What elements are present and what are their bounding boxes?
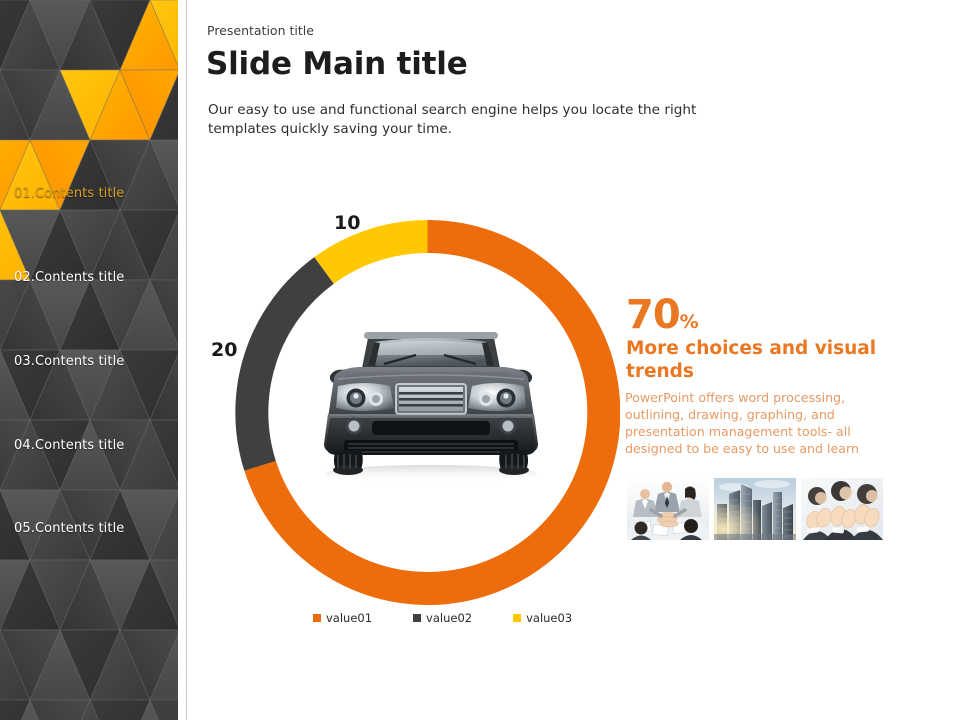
sidebar-divider <box>178 0 187 720</box>
sidebar-item-label: 05.Contents title <box>14 521 124 536</box>
chart-legend: value01 value02 value03 <box>313 610 572 626</box>
legend-label: value01 <box>326 611 372 625</box>
sidebar-item-label: 03.Contents title <box>14 354 124 369</box>
sidebar-item-label: 01.Contents title <box>14 186 124 201</box>
slide-subcopy: Our easy to use and functional search en… <box>208 101 753 140</box>
right-panel-body: PowerPoint offers word processing, outli… <box>625 389 895 457</box>
sidebar-item-contents-01[interactable]: 01.Contents title <box>14 186 178 201</box>
chart-value-label-10: 10 <box>334 212 360 234</box>
legend-swatch-icon <box>413 614 421 622</box>
legend-item-value02[interactable]: value02 <box>413 611 472 625</box>
presentation-title: Presentation title <box>207 23 314 38</box>
legend-item-value01[interactable]: value01 <box>313 611 372 625</box>
photo-strip <box>627 478 883 540</box>
city-skyscrapers-photo[interactable] <box>714 478 796 540</box>
legend-item-value03[interactable]: value03 <box>513 611 572 625</box>
right-panel-heading: More choices and visual trends <box>626 338 894 383</box>
sidebar-nav: 01.Contents title 02.Contents title 03.C… <box>0 0 178 720</box>
page-title: Slide Main title <box>206 46 468 82</box>
sidebar: 01.Contents title 02.Contents title 03.C… <box>0 0 178 720</box>
sidebar-item-label: 02.Contents title <box>14 270 124 285</box>
business-team-meeting-photo[interactable] <box>627 478 709 540</box>
percentage-symbol: % <box>680 311 699 333</box>
sidebar-item-contents-02[interactable]: 02.Contents title <box>14 270 178 285</box>
legend-swatch-icon <box>313 614 321 622</box>
donut-segment-value03[interactable] <box>324 237 427 271</box>
applauding-audience-photo[interactable] <box>801 478 883 540</box>
percentage-value: 70% <box>626 295 699 335</box>
sidebar-item-contents-03[interactable]: 03.Contents title <box>14 354 178 369</box>
sidebar-item-contents-05[interactable]: 05.Contents title <box>14 521 178 536</box>
sidebar-item-contents-04[interactable]: 04.Contents title <box>14 438 178 453</box>
suv-car-front-view-image <box>312 322 550 484</box>
percentage-number: 70 <box>626 292 680 338</box>
chart-value-label-20: 20 <box>211 339 237 361</box>
legend-label: value02 <box>426 611 472 625</box>
legend-label: value03 <box>526 611 572 625</box>
slide-canvas: 01.Contents title 02.Contents title 03.C… <box>0 0 960 720</box>
sidebar-item-label: 04.Contents title <box>14 438 124 453</box>
legend-swatch-icon <box>513 614 521 622</box>
